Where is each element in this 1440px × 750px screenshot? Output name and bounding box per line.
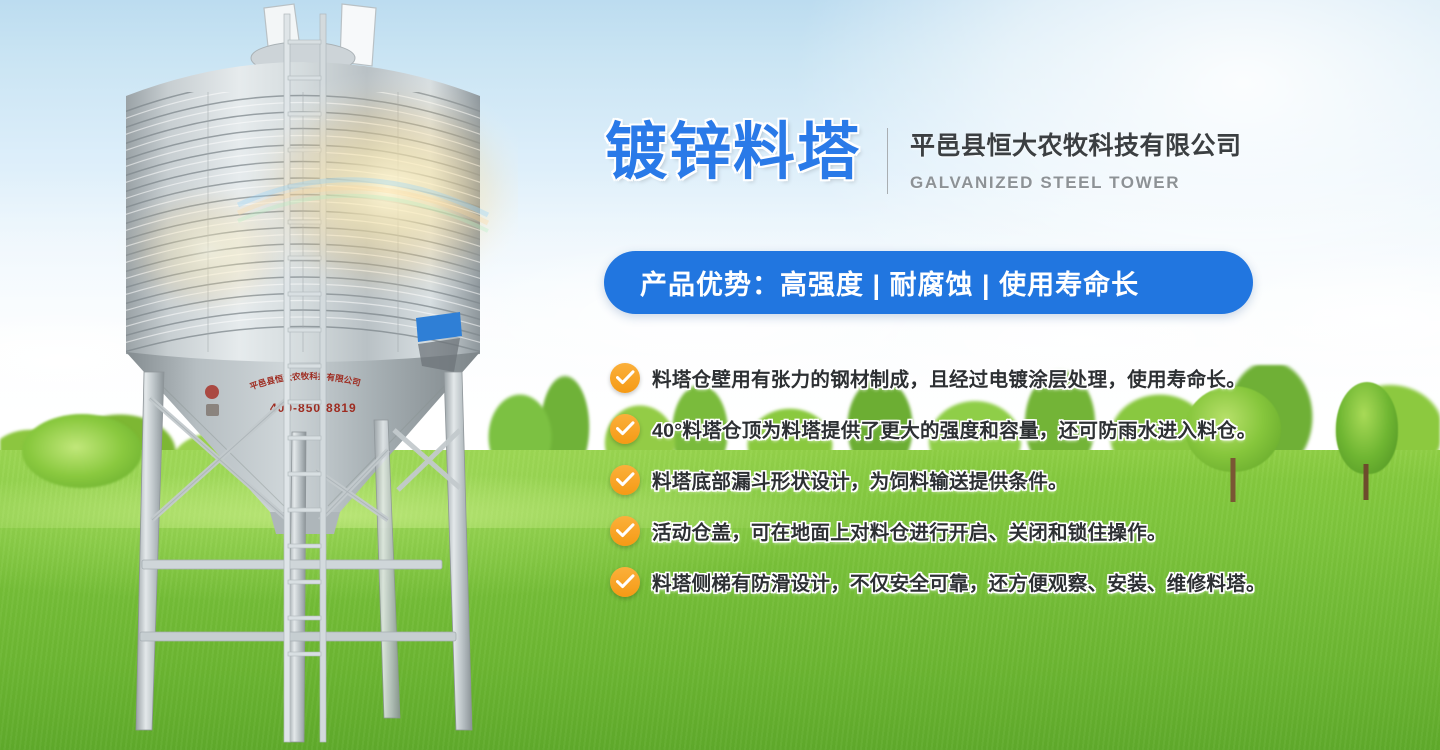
feature-text: 40°料塔仓顶为料塔提供了更大的强度和容量，还可防雨水进入料仓。 (652, 414, 1257, 443)
check-circle-icon (610, 363, 640, 393)
feature-text: 料塔仓壁用有张力的钢材制成，且经过电镀涂层处理，使用寿命长。 (652, 363, 1246, 392)
feature-item: 料塔仓壁用有张力的钢材制成，且经过电镀涂层处理，使用寿命长。 (610, 352, 1440, 403)
feature-item: 40°料塔仓顶为料塔提供了更大的强度和容量，还可防雨水进入料仓。 (610, 403, 1440, 454)
feature-list: 料塔仓壁用有张力的钢材制成，且经过电镀涂层处理，使用寿命长。 40°料塔仓顶为料… (610, 352, 1440, 607)
headline-divider (887, 128, 888, 194)
company-name: 平邑县恒大农牧科技有限公司 (910, 126, 1242, 162)
advantages-pill: 产品优势：高强度 | 耐腐蚀 | 使用寿命长 (604, 251, 1253, 314)
check-circle-icon (610, 516, 640, 546)
feature-text: 料塔底部漏斗形状设计，为饲料输送提供条件。 (652, 465, 1068, 494)
page-title: 镀锌料塔 (605, 118, 861, 187)
product-photo-silo: 平邑县恒大农牧科技有限公司 400-850-8819 (88, 0, 518, 750)
hero-content: 镀锌料塔 平邑县恒大农牧科技有限公司 GALVANIZED STEEL TOWE… (600, 0, 1440, 750)
advantages-pill-text: 产品优势：高强度 | 耐腐蚀 | 使用寿命长 (640, 263, 1139, 302)
check-circle-icon (610, 414, 640, 444)
feature-text: 料塔侧梯有防滑设计，不仅安全可靠，还方便观察、安装、维修料塔。 (652, 567, 1266, 596)
headline-company-block: 平邑县恒大农牧科技有限公司 GALVANIZED STEEL TOWER (910, 118, 1242, 193)
english-subtitle: GALVANIZED STEEL TOWER (910, 173, 1242, 193)
feature-item: 料塔侧梯有防滑设计，不仅安全可靠，还方便观察、安装、维修料塔。 (610, 556, 1440, 607)
feature-item: 料塔底部漏斗形状设计，为饲料输送提供条件。 (610, 454, 1440, 505)
hero-banner: 平邑县恒大农牧科技有限公司 400-850-8819 (0, 0, 1440, 750)
feature-item: 活动仓盖，可在地面上对料仓进行开启、关闭和锁住操作。 (610, 505, 1440, 556)
headline-row: 镀锌料塔 平邑县恒大农牧科技有限公司 GALVANIZED STEEL TOWE… (605, 118, 1242, 194)
feature-text: 活动仓盖，可在地面上对料仓进行开启、关闭和锁住操作。 (652, 516, 1167, 545)
check-circle-icon (610, 465, 640, 495)
check-circle-icon (610, 567, 640, 597)
